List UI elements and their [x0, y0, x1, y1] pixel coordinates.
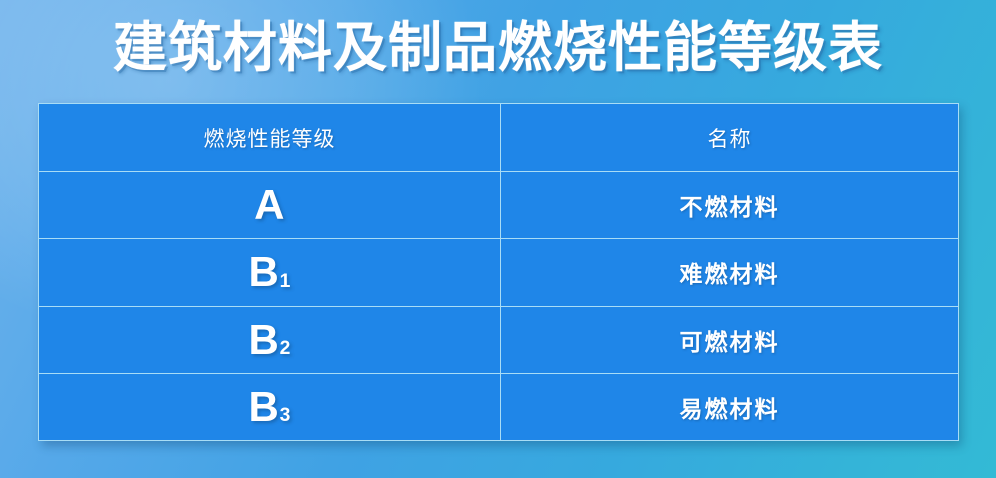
table-row: B1 难燃材料 — [39, 239, 959, 306]
column-header-grade: 燃烧性能等级 — [39, 104, 501, 172]
cell-grade: B2 — [39, 306, 501, 373]
grade-value: B3 — [248, 386, 290, 428]
table-header: 燃烧性能等级 名称 — [39, 104, 959, 172]
column-header-grade-label: 燃烧性能等级 — [204, 128, 336, 151]
column-header-name-label: 名称 — [708, 128, 752, 151]
grade-base: A — [254, 181, 285, 228]
grade-subscript: 1 — [280, 271, 291, 292]
cell-name: 不燃材料 — [501, 172, 959, 239]
grade-subscript: 2 — [280, 338, 291, 359]
cell-name: 可燃材料 — [501, 306, 959, 373]
grade-base: B — [248, 383, 279, 430]
grade-table-container: 燃烧性能等级 名称 A 不燃材料 B1 — [38, 103, 958, 441]
table-row: B3 易燃材料 — [39, 373, 959, 440]
cell-name: 易燃材料 — [501, 373, 959, 440]
cell-grade: B1 — [39, 239, 501, 306]
grade-value: B1 — [248, 251, 290, 293]
material-name: 不燃材料 — [680, 194, 780, 220]
grade-value: A — [254, 184, 285, 226]
material-name: 难燃材料 — [680, 261, 780, 287]
cell-name: 难燃材料 — [501, 239, 959, 306]
table-row: A 不燃材料 — [39, 172, 959, 239]
material-name: 易燃材料 — [680, 396, 780, 422]
grade-subscript: 3 — [280, 405, 291, 426]
material-name: 可燃材料 — [680, 329, 780, 355]
table-header-row: 燃烧性能等级 名称 — [39, 104, 959, 172]
page-title: 建筑材料及制品燃烧性能等级表 — [0, 14, 996, 82]
cell-grade: A — [39, 172, 501, 239]
grade-value: B2 — [248, 319, 290, 361]
grade-base: B — [248, 316, 279, 363]
column-header-name: 名称 — [501, 104, 959, 172]
cell-grade: B3 — [39, 373, 501, 440]
table-row: B2 可燃材料 — [39, 306, 959, 373]
table-body: A 不燃材料 B1 难燃材料 B2 可燃材料 — [39, 172, 959, 441]
grade-base: B — [248, 248, 279, 295]
combustion-grade-table: 燃烧性能等级 名称 A 不燃材料 B1 — [38, 103, 959, 441]
